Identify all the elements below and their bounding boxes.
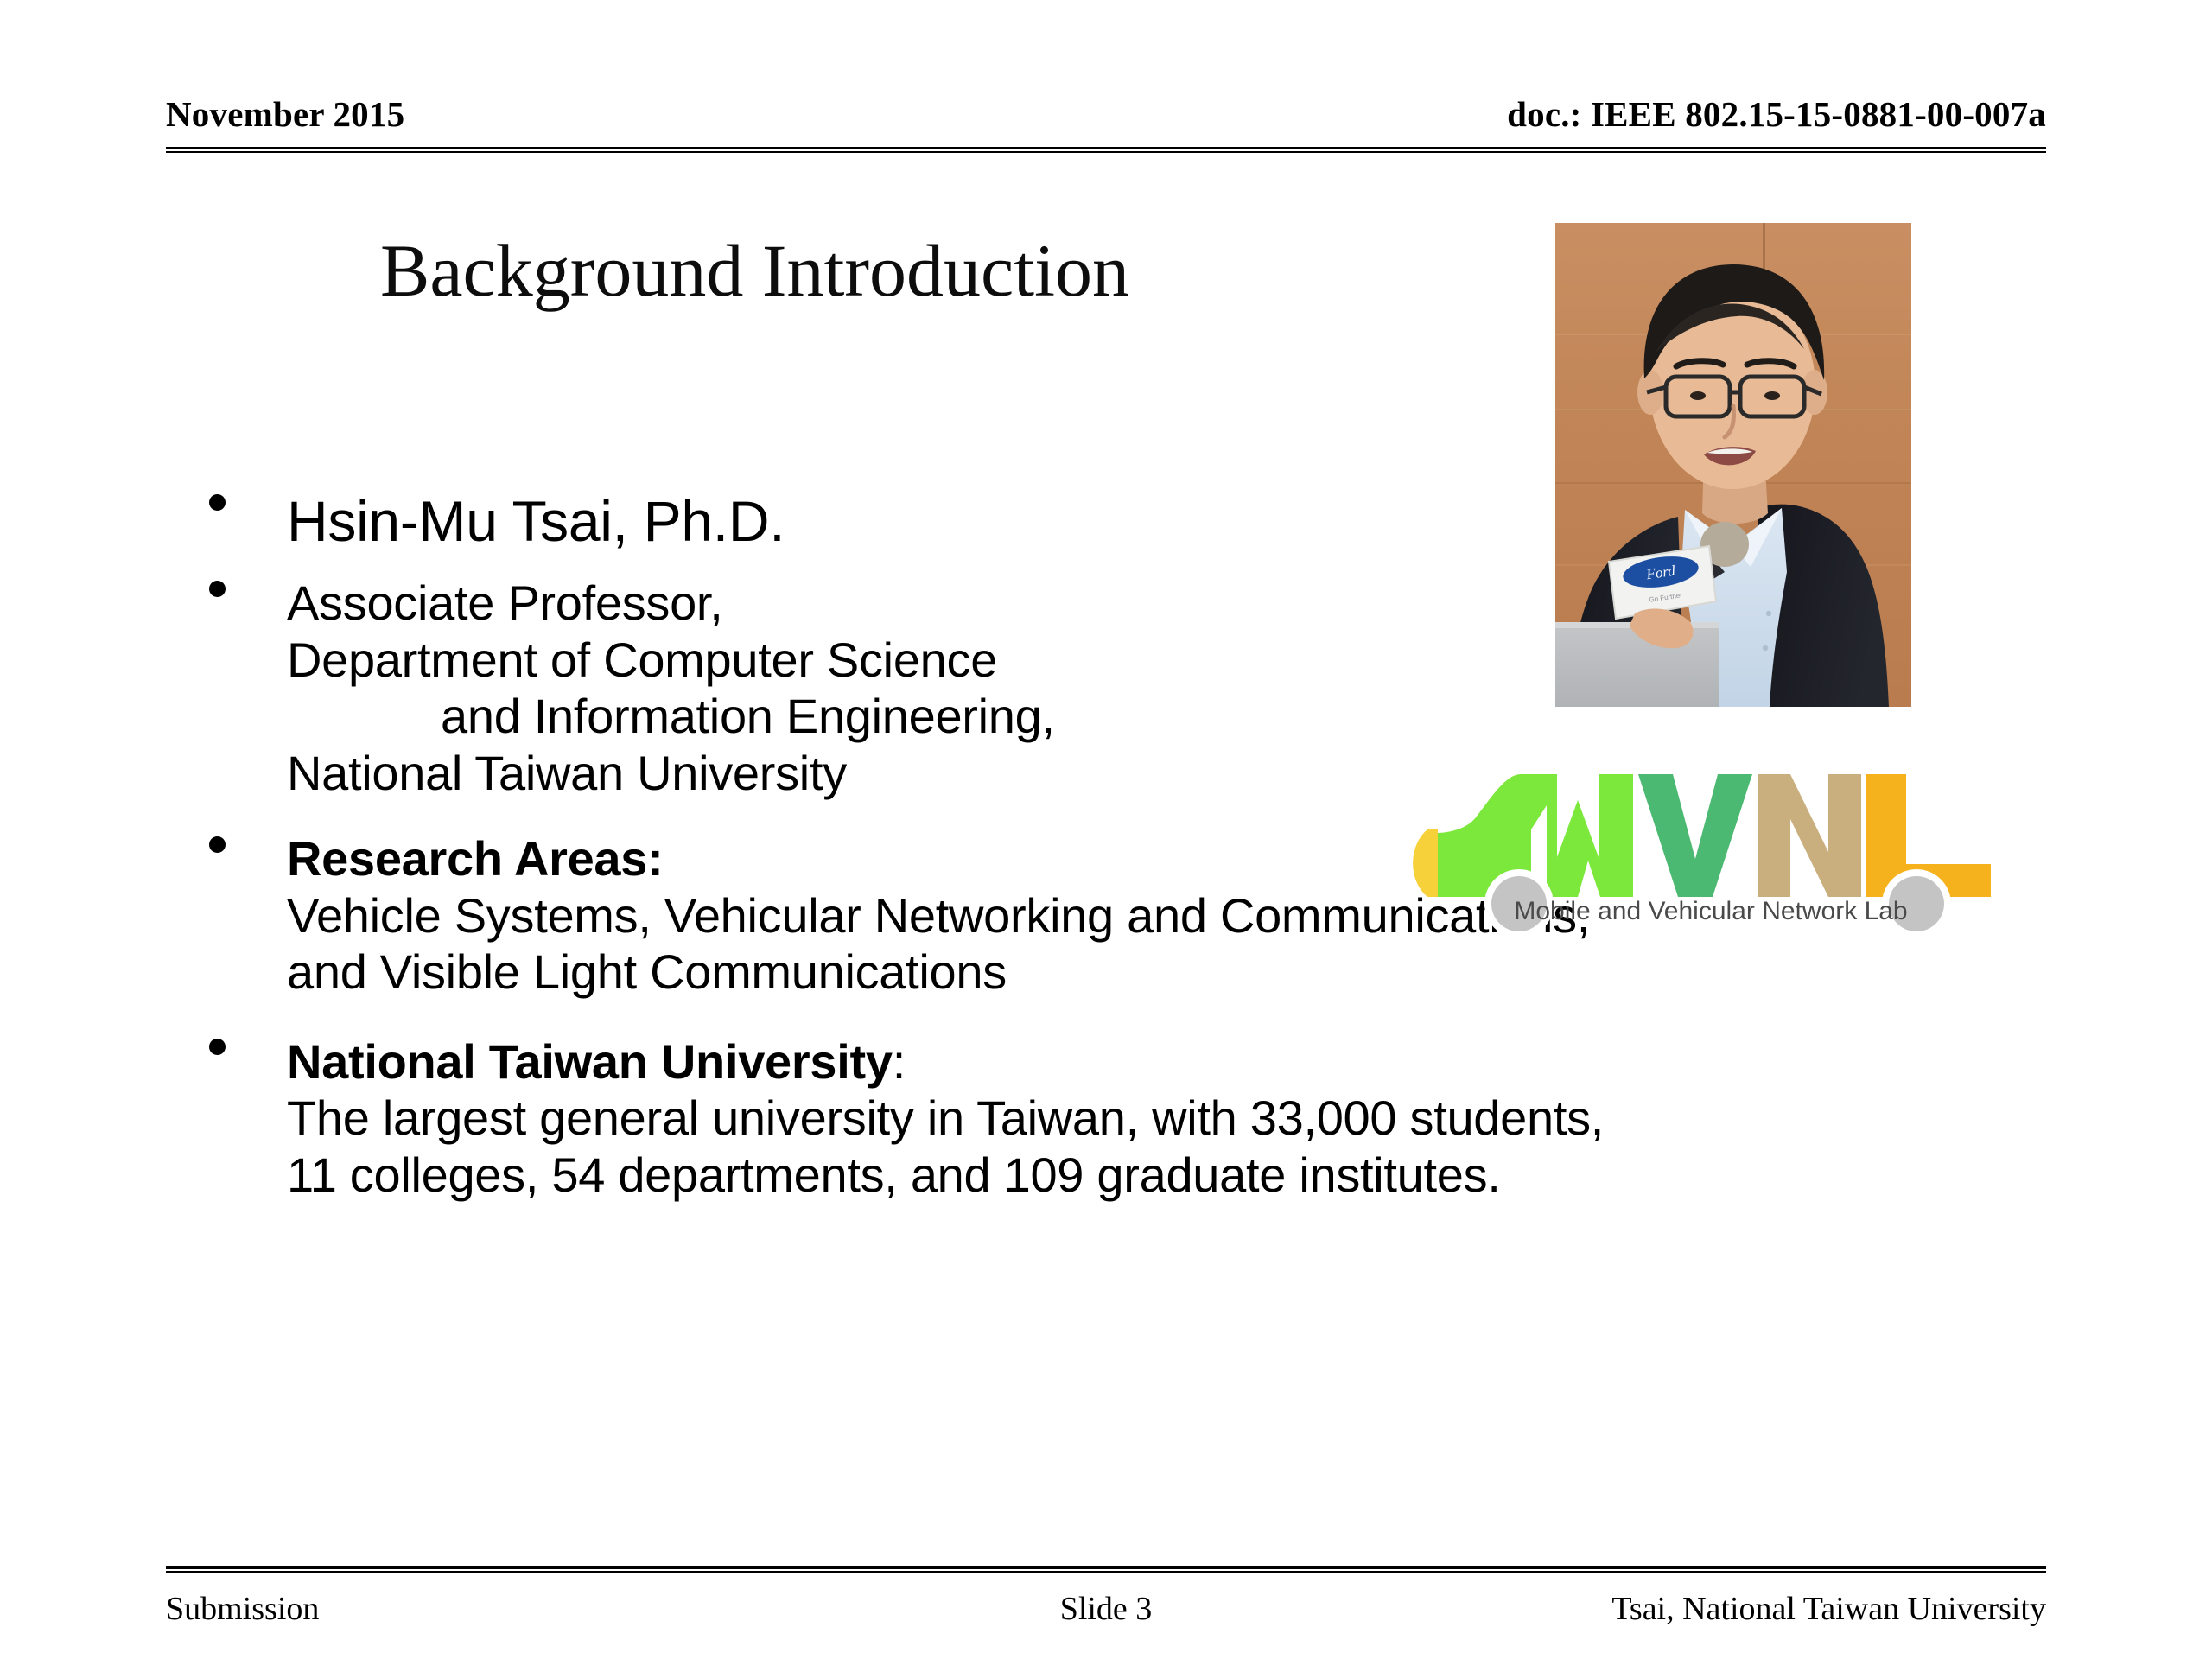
footer-slide-number: Slide 3 — [1060, 1590, 1153, 1628]
footer-submission-label: Submission — [166, 1590, 319, 1628]
header-date: November 2015 — [166, 93, 404, 135]
header-document-id: doc.: IEEE 802.15-15-0881-00-007a — [1507, 93, 2046, 135]
text-line: The largest general university in Taiwan… — [287, 1090, 2067, 1147]
footer-divider — [166, 1566, 2046, 1569]
text-colon: : — [893, 1034, 906, 1089]
page-title: Background Introduction — [380, 232, 1129, 309]
footer-attribution: Tsai, National Taiwan University — [1611, 1590, 2046, 1628]
speaker-photo: Ford Go Further — [1555, 223, 1911, 707]
text-emphasis: Research Areas: — [287, 831, 663, 886]
logo-headlight — [1413, 829, 1427, 897]
text-line: 11 colleges, 54 departments, and 109 gra… — [287, 1147, 2067, 1204]
header-divider — [166, 147, 2046, 150]
bullet-dot-icon — [209, 836, 226, 853]
text-emphasis: National Taiwan University — [287, 1034, 893, 1089]
slide-header: November 2015 doc.: IEEE 802.15-15-0881-… — [166, 93, 2046, 156]
logo-tagline: Mobile and Vehicular Network Lab — [1514, 897, 1907, 925]
bullet-dot-icon — [209, 494, 226, 511]
mvnl-logo: Mobile and Vehicular Network Lab — [1374, 750, 2031, 957]
speaker-photo-image: Ford Go Further — [1555, 223, 1911, 707]
slide-canvas: November 2015 doc.: IEEE 802.15-15-0881-… — [0, 0, 2212, 1659]
logo-letter-v — [1638, 774, 1752, 897]
bullet-dot-icon — [209, 581, 226, 597]
mvnl-logo-image: Mobile and Vehicular Network Lab — [1374, 750, 2031, 957]
slide-footer: Submission Slide 3 Tsai, National Taiwan… — [166, 1566, 2046, 1635]
text-line: National Taiwan University: — [287, 1033, 2067, 1090]
bullet-dot-icon — [209, 1039, 226, 1055]
list-item-text: National Taiwan University: The largest … — [287, 1033, 2067, 1204]
list-item-ntu: National Taiwan University: The largest … — [192, 1033, 2067, 1204]
logo-letter-n — [1758, 774, 1861, 897]
